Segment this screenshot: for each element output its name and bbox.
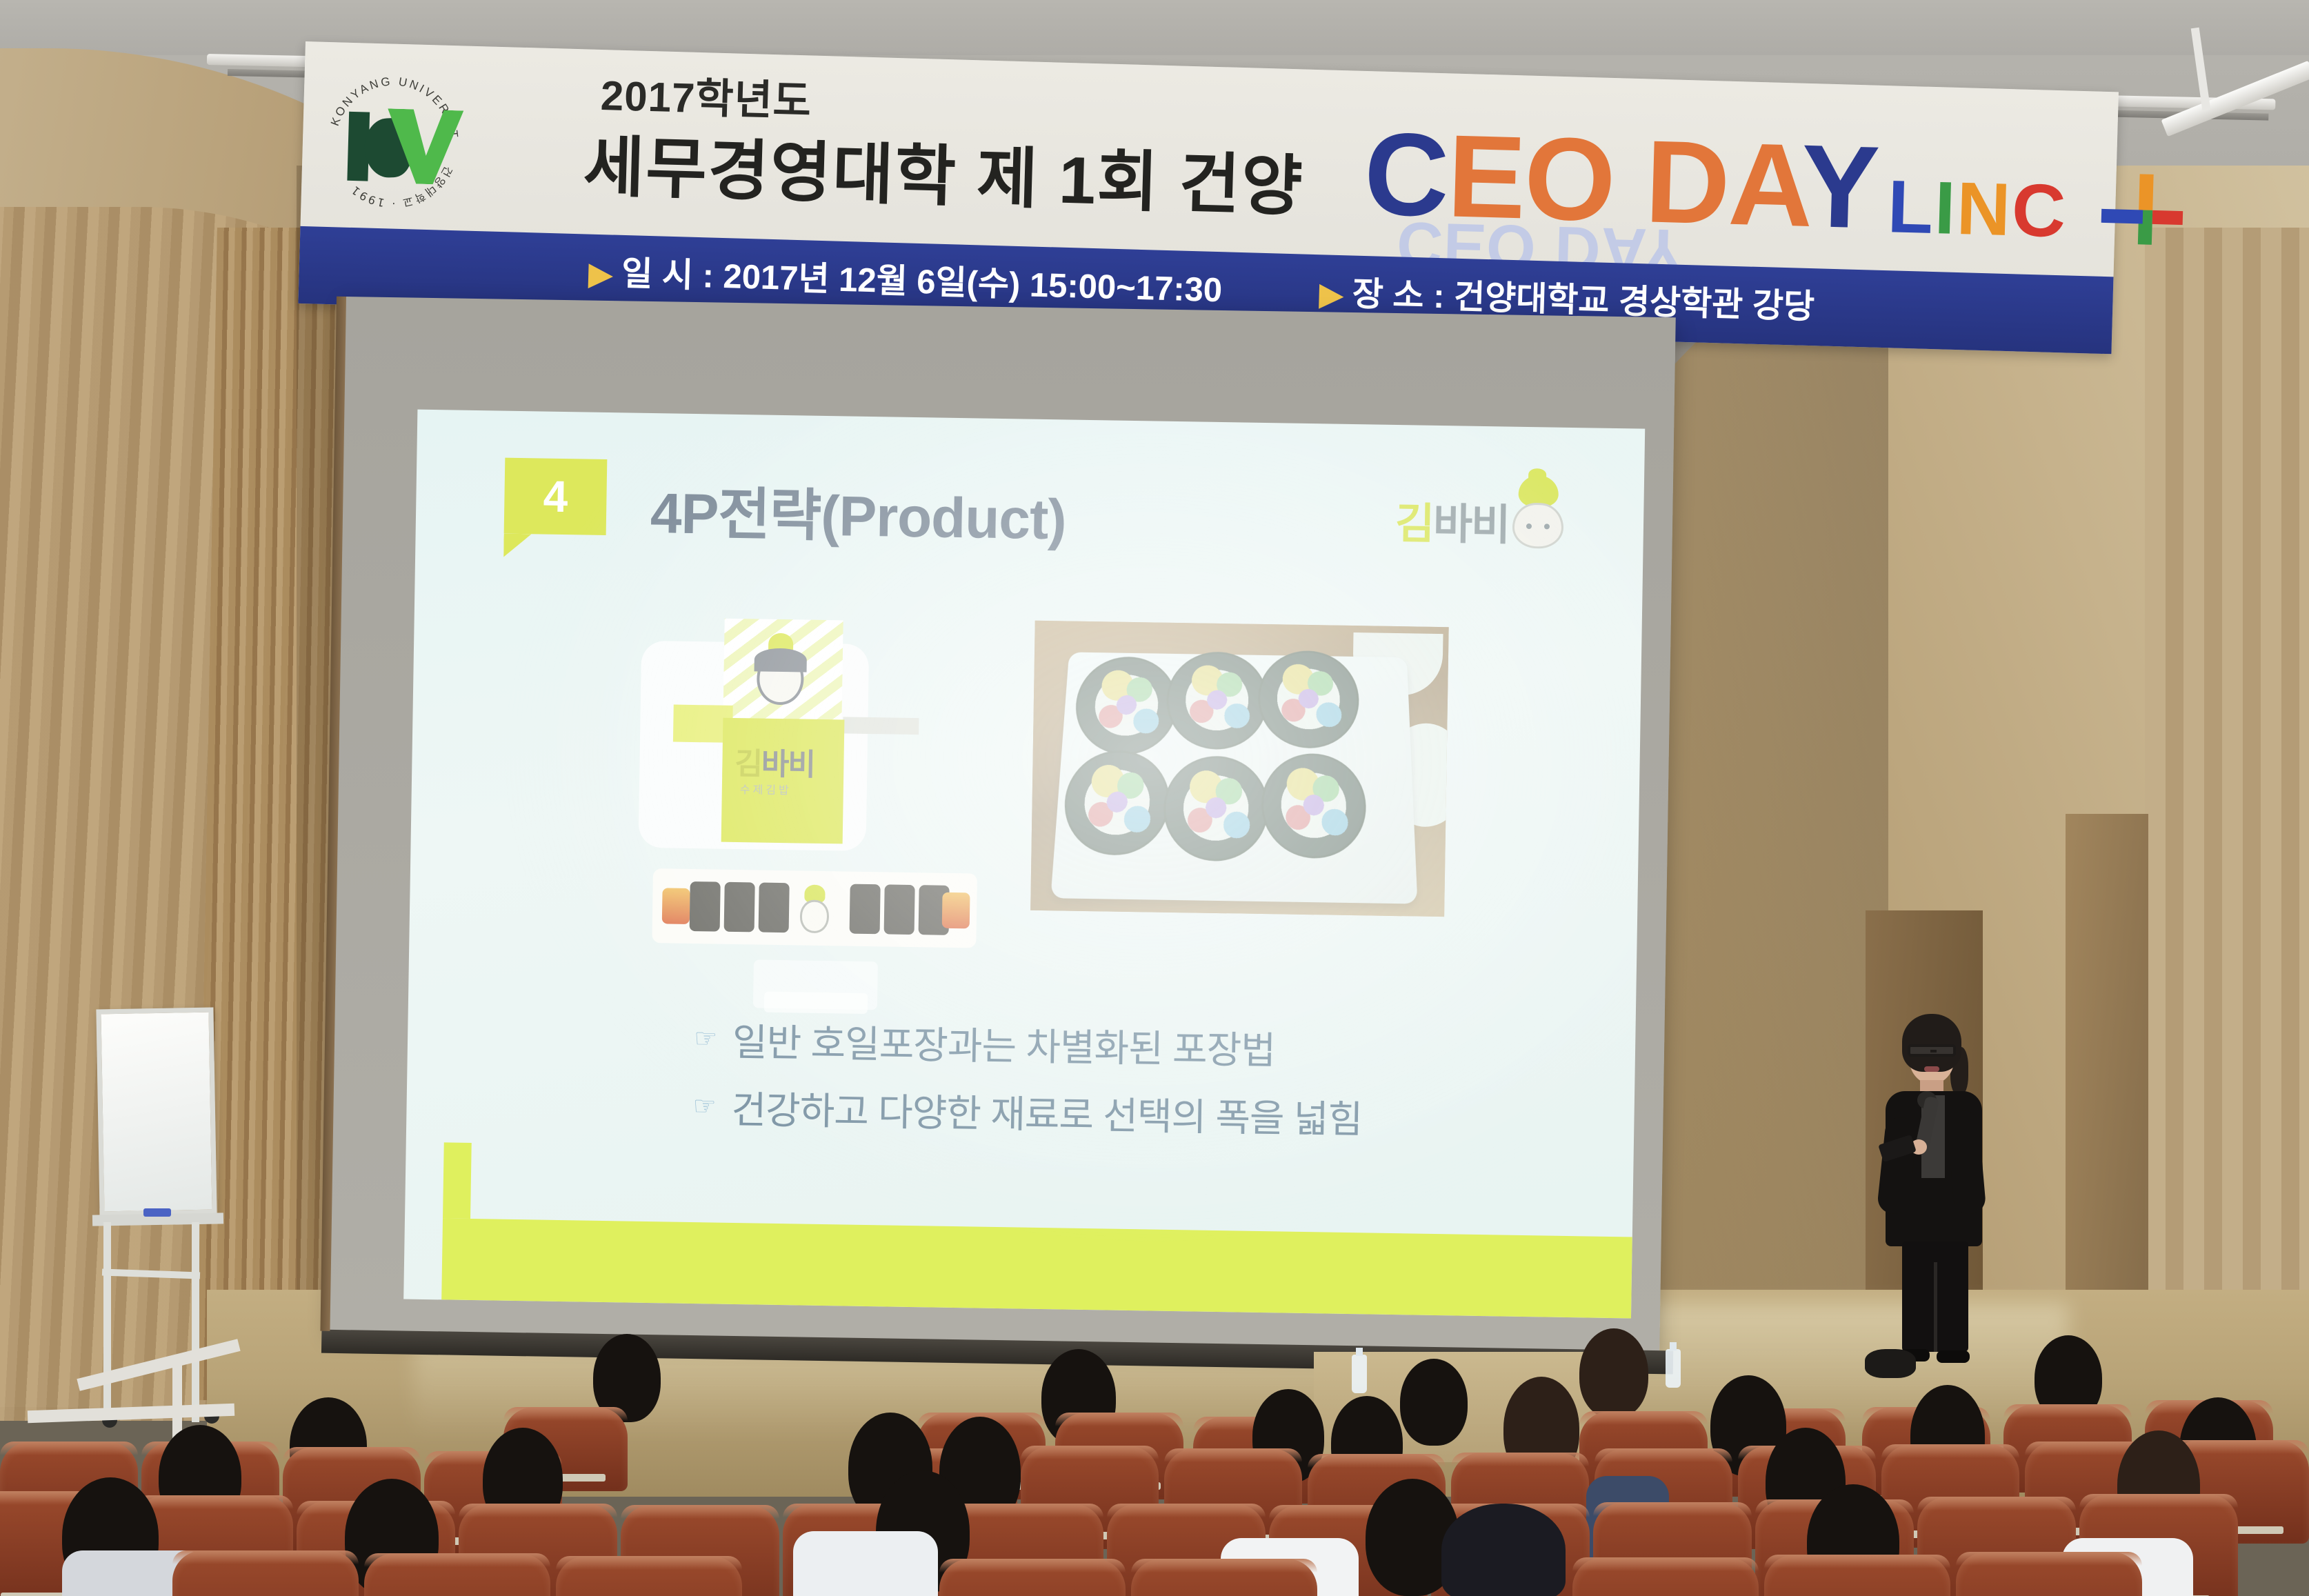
presenter-lips <box>1924 1066 1939 1072</box>
plus-stroke-left <box>2101 209 2143 224</box>
mascot-eye-left <box>1526 523 1532 529</box>
water-bottle <box>1666 1349 1681 1388</box>
ceo-day-letter-c: C <box>1363 108 1450 241</box>
konyang-university-logo: KONYANG UNIVERSITY 건양대학교 · 1991 <box>319 68 468 217</box>
package-mascot-hair <box>754 648 808 672</box>
linc-letter-i: I <box>1933 166 1957 250</box>
water-bottle <box>1352 1355 1367 1393</box>
auditorium-seat <box>364 1553 550 1596</box>
presenter <box>1869 1014 2000 1373</box>
slide-footer-band <box>441 1218 1632 1318</box>
linc-plus-logo: LINC <box>1886 163 2068 254</box>
slide-section-badge: 4 <box>504 458 608 535</box>
auditorium-seat <box>1956 1552 2142 1596</box>
plus-stroke-top <box>2139 174 2153 210</box>
gimbabi-char-2: 바비 <box>1433 501 1510 550</box>
audience-area <box>0 1331 2309 1596</box>
kimbap-photo <box>1030 621 1449 917</box>
place-label: 장 소 : <box>1352 276 1445 316</box>
mascot-eye-right <box>1544 523 1550 529</box>
cutlery-illustration-2 <box>764 992 868 1014</box>
roll-end-right <box>942 892 970 929</box>
roll-end-left <box>662 888 690 924</box>
kimbap-roll <box>724 882 755 932</box>
triangle-marker-icon: ▶ <box>1319 277 1343 312</box>
bullet-text: 일반 호일포장과는 차별화된 포장법 <box>732 1011 1276 1075</box>
bullet-text: 건강하고 다양한 재료로 선택의 폭을 넓힘 <box>731 1079 1363 1144</box>
package-brand-char-1: 김 <box>734 747 761 781</box>
linc-plus-symbol-icon <box>2101 173 2179 244</box>
gimbabi-mascot-icon <box>1508 475 1568 550</box>
presentation-slide: 4 4P전략(Product) 김바비 <box>403 410 1645 1319</box>
package-brand-char-2: 바비 <box>761 748 815 782</box>
kimbap-roll <box>759 883 790 933</box>
linc-letter-n: N <box>1956 166 2013 251</box>
auditorium-seat <box>939 1559 1126 1596</box>
package-mascot-icon <box>748 632 813 713</box>
kimbap-roll-strip <box>652 868 977 948</box>
audience-hood <box>1441 1504 1566 1596</box>
list-item: ☞ 일반 호일포장과는 차별화된 포장법 <box>694 1010 1364 1076</box>
plus-stroke-right <box>2152 210 2183 225</box>
pointing-hand-icon: ☞ <box>692 1090 732 1122</box>
ceo-day-letters-eoda: EO DA <box>1446 110 1803 251</box>
banner-line-2: 세무경영대학 제 1회 건양 <box>582 112 1305 228</box>
auditorium-seat <box>172 1550 359 1596</box>
audience-head <box>1400 1359 1468 1446</box>
linc-letter-l: L <box>1887 164 1936 249</box>
package-brand-text: 김바비 <box>734 739 814 784</box>
mascot-face <box>1512 503 1563 549</box>
auditorium-seat <box>1131 1559 1317 1596</box>
right-wall-panel <box>2145 228 2309 1400</box>
slide-title: 4P전략(Product) <box>650 467 1066 555</box>
date-value: 2017년 12월 6일(수) 15:00~17:30 <box>723 258 1223 309</box>
kimbap-roll <box>884 884 915 935</box>
ceo-day-title: CEO DAY <box>1363 115 1879 247</box>
auditorium-seat <box>1572 1557 1759 1596</box>
linc-letter-c: C <box>2010 168 2068 252</box>
gimbabi-brand-logo: 김바비 <box>1395 473 1568 559</box>
gimbabi-char-1: 김 <box>1395 500 1433 548</box>
ceo-day-letter-y: Y <box>1799 121 1880 254</box>
list-item: ☞ 건강하고 다양한 재료로 선택의 폭을 넓힘 <box>692 1078 1363 1144</box>
projection-screen: 4 4P전략(Product) 김바비 <box>328 297 1675 1352</box>
whiteboard <box>96 1008 217 1217</box>
stage-door-right-2 <box>2066 814 2148 1366</box>
kimbap-roll <box>850 884 881 935</box>
audience-jacket <box>793 1531 938 1596</box>
package-tagline: 수제김밥 <box>740 780 792 797</box>
presenter-hair <box>1902 1014 1961 1072</box>
triangle-marker-icon: ▶ <box>588 257 612 292</box>
slide-section-number: 4 <box>504 458 608 535</box>
package-side-tab-right <box>843 717 919 735</box>
projector-washout-overlay <box>1030 621 1449 917</box>
strip-logo-head <box>800 899 830 933</box>
strip-logo-icon <box>794 884 837 933</box>
whiteboard-marker <box>143 1208 171 1217</box>
date-label: 일 시 : <box>621 255 714 295</box>
auditorium-seat <box>1764 1555 1950 1596</box>
auditorium-scene: KONYANG UNIVERSITY 건양대학교 · 1991 2017학년도 … <box>0 0 2309 1596</box>
audience-head <box>1579 1328 1648 1418</box>
gimbabi-wordmark: 김바비 <box>1395 488 1510 552</box>
kimbap-roll <box>690 881 721 932</box>
auditorium-seat <box>556 1556 742 1596</box>
badge-tail <box>503 534 532 558</box>
slide-bullet-list: ☞ 일반 호일포장과는 차별화된 포장법 ☞ 건강하고 다양한 재료로 선택의 … <box>692 1010 1364 1156</box>
pointing-hand-icon: ☞ <box>694 1023 733 1055</box>
slide-footer-accent <box>443 1142 472 1219</box>
presenter-glasses <box>1908 1044 1956 1057</box>
